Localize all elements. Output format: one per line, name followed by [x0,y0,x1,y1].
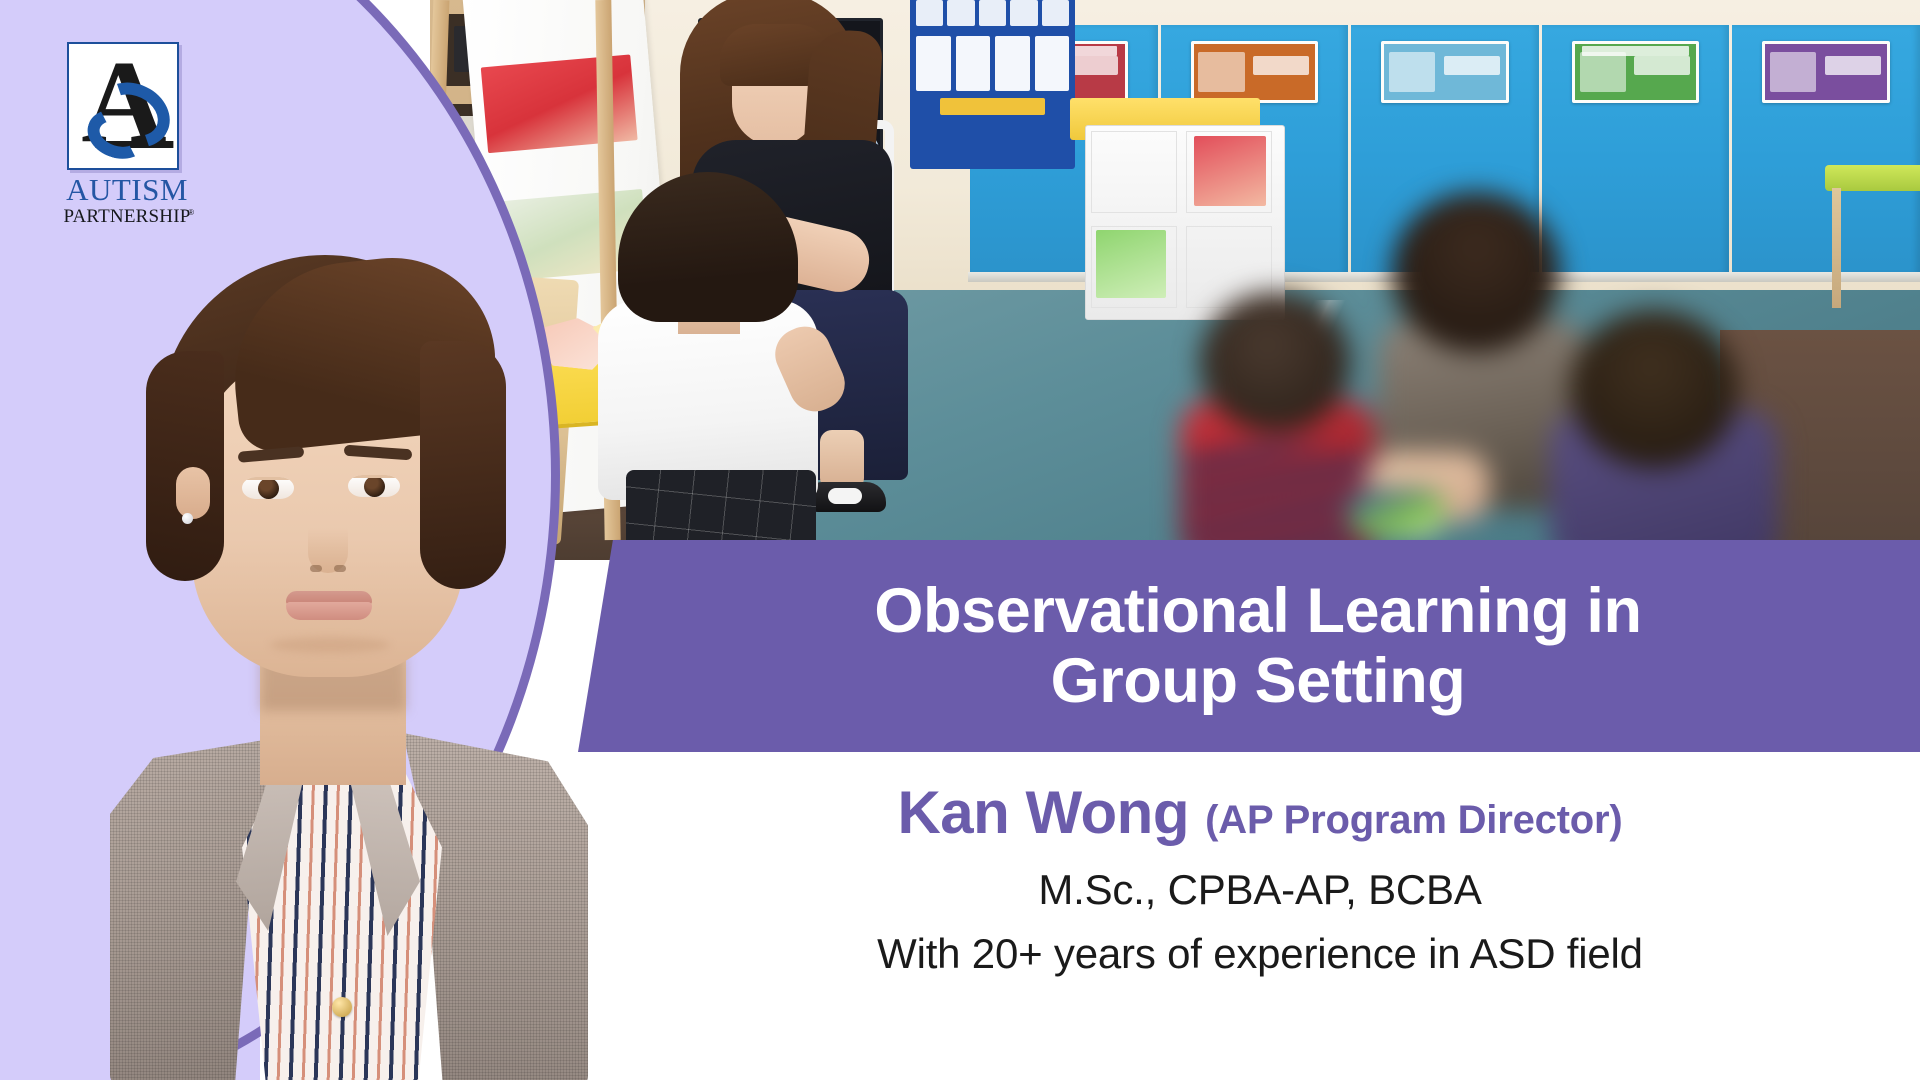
teacher-shoe [808,482,886,512]
logo-wordmark-partnership: PARTNERSHIP [62,206,192,227]
blurred-child-head [1392,192,1560,352]
classroom-photo [430,0,1920,560]
logo-wordmark-autism: AUTISM [62,173,192,206]
blurred-child-head [1570,310,1738,468]
title-banner: Observational Learning in Group Setting [578,540,1920,752]
portrait-eye [348,475,400,497]
classroom-photo-scene [430,0,1920,560]
speaker-name: Kan Wong [897,779,1205,846]
speaker-credentials: M.Sc., CPBA-AP, BCBA [600,866,1920,914]
autism-partnership-logo: A AUTISM PARTNERSHIP ® [62,42,192,232]
left-profile-panel: A AUTISM PARTNERSHIP ® [0,0,600,1080]
portrait-eye [242,477,294,499]
wall-poster [1572,41,1700,103]
portrait-ear [176,467,210,519]
portrait-hair-side-left [146,351,224,581]
logo-mark-box: A [67,42,179,170]
blurred-child-shoe [1348,488,1444,536]
presentation-title: Observational Learning in Group Setting [856,576,1641,716]
blurred-children-group [1170,200,1810,560]
teacher-leg [820,430,864,490]
speaker-portrait [120,255,600,1080]
wall-poster [1381,41,1509,103]
portrait-gold-button [332,997,352,1017]
speaker-name-row: Kan Wong (AP Program Director) [600,778,1920,847]
wall-poster [1191,41,1319,103]
speaker-info-block: Kan Wong (AP Program Director) M.Sc., CP… [600,778,1920,1080]
portrait-lower-lip [286,602,372,620]
toy-box [1194,136,1266,206]
portrait-chin-shadow [270,637,390,653]
speaker-role: (AP Program Director) [1205,798,1622,842]
logo-trademark-icon: ® [188,208,194,217]
blurred-child-head [1200,292,1350,432]
wall-poster [1762,41,1890,103]
portrait-nose [308,513,348,573]
portrait-hair-side-right [420,341,506,589]
title-line-2: Group Setting [1051,646,1466,716]
table-leg [1832,188,1841,308]
toy-box [1096,230,1166,298]
title-line-1: Observational Learning in [874,576,1641,646]
speaker-experience: With 20+ years of experience in ASD fiel… [600,930,1920,978]
portrait-earring [182,513,193,524]
schedule-chart [910,0,1075,169]
slide-canvas: A AUTISM PARTNERSHIP ® [0,0,1920,1080]
